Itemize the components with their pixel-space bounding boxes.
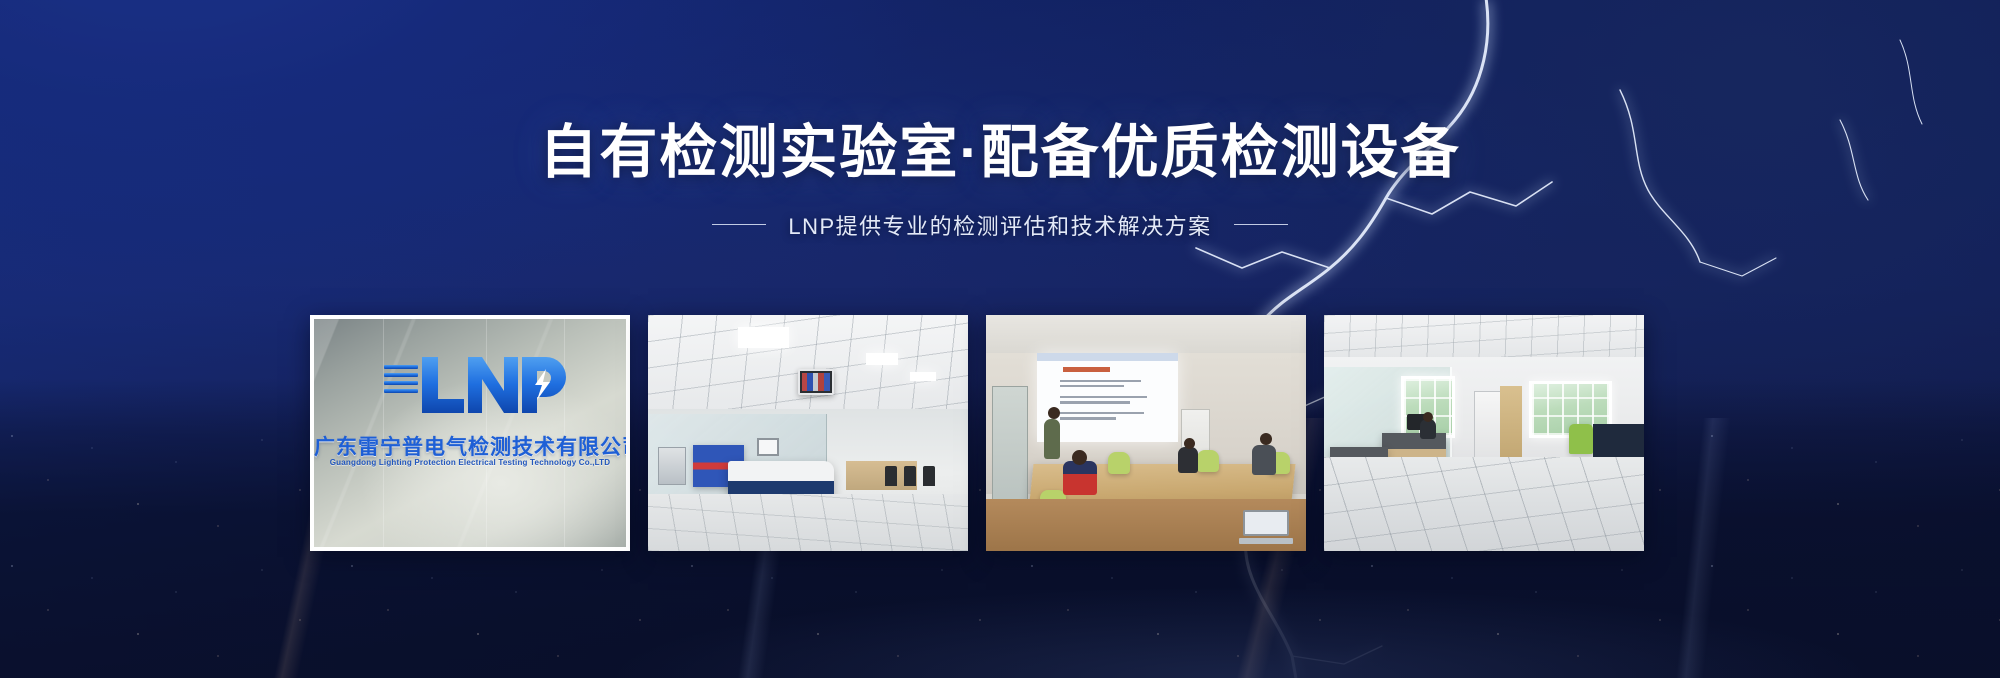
headline-block: 自有检测实验室·配备优质检测设备 LNP提供专业的检测评估和技术解决方案 xyxy=(0,118,2000,241)
sign-company-name-en: Guangdong Lighting Protection Electrical… xyxy=(314,458,626,467)
right-rule-divider xyxy=(1234,224,1288,225)
presenter-figure xyxy=(1044,419,1060,459)
gallery-photo-testing-laboratory[interactable] xyxy=(648,315,968,551)
subtitle-row: LNP提供专业的检测评估和技术解决方案 xyxy=(0,209,2000,241)
photo-gallery: 广东雷宁普电气检测技术有限公司 Guangdong Lighting Prote… xyxy=(310,315,1644,551)
wall-display-icon xyxy=(798,369,834,395)
laboratory-scene xyxy=(648,315,968,551)
attendee-figure xyxy=(1252,445,1276,475)
gallery-photo-open-office[interactable] xyxy=(1324,315,1644,551)
promo-banner: 自有检测实验室·配备优质检测设备 LNP提供专业的检测评估和技术解决方案 xyxy=(0,0,2000,678)
page-title: 自有检测实验室·配备优质检测设备 xyxy=(0,118,2000,189)
attendee-figure xyxy=(1063,461,1097,495)
attendee-figure xyxy=(1178,447,1198,473)
lnp-logo-icon xyxy=(370,349,570,421)
left-rule-divider xyxy=(712,224,766,225)
meeting-room-scene xyxy=(986,315,1306,551)
office-scene xyxy=(1324,315,1644,551)
worker-figure xyxy=(1420,419,1436,439)
laptop-icon xyxy=(1239,510,1293,544)
gallery-photo-company-sign[interactable]: 广东雷宁普电气检测技术有限公司 Guangdong Lighting Prote… xyxy=(310,315,630,551)
gallery-photo-meeting-room[interactable] xyxy=(986,315,1306,551)
page-subtitle: LNP提供专业的检测评估和技术解决方案 xyxy=(788,209,1211,241)
office-chair xyxy=(1569,424,1593,454)
sign-company-name-cn: 广东雷宁普电气检测技术有限公司 xyxy=(314,431,626,461)
